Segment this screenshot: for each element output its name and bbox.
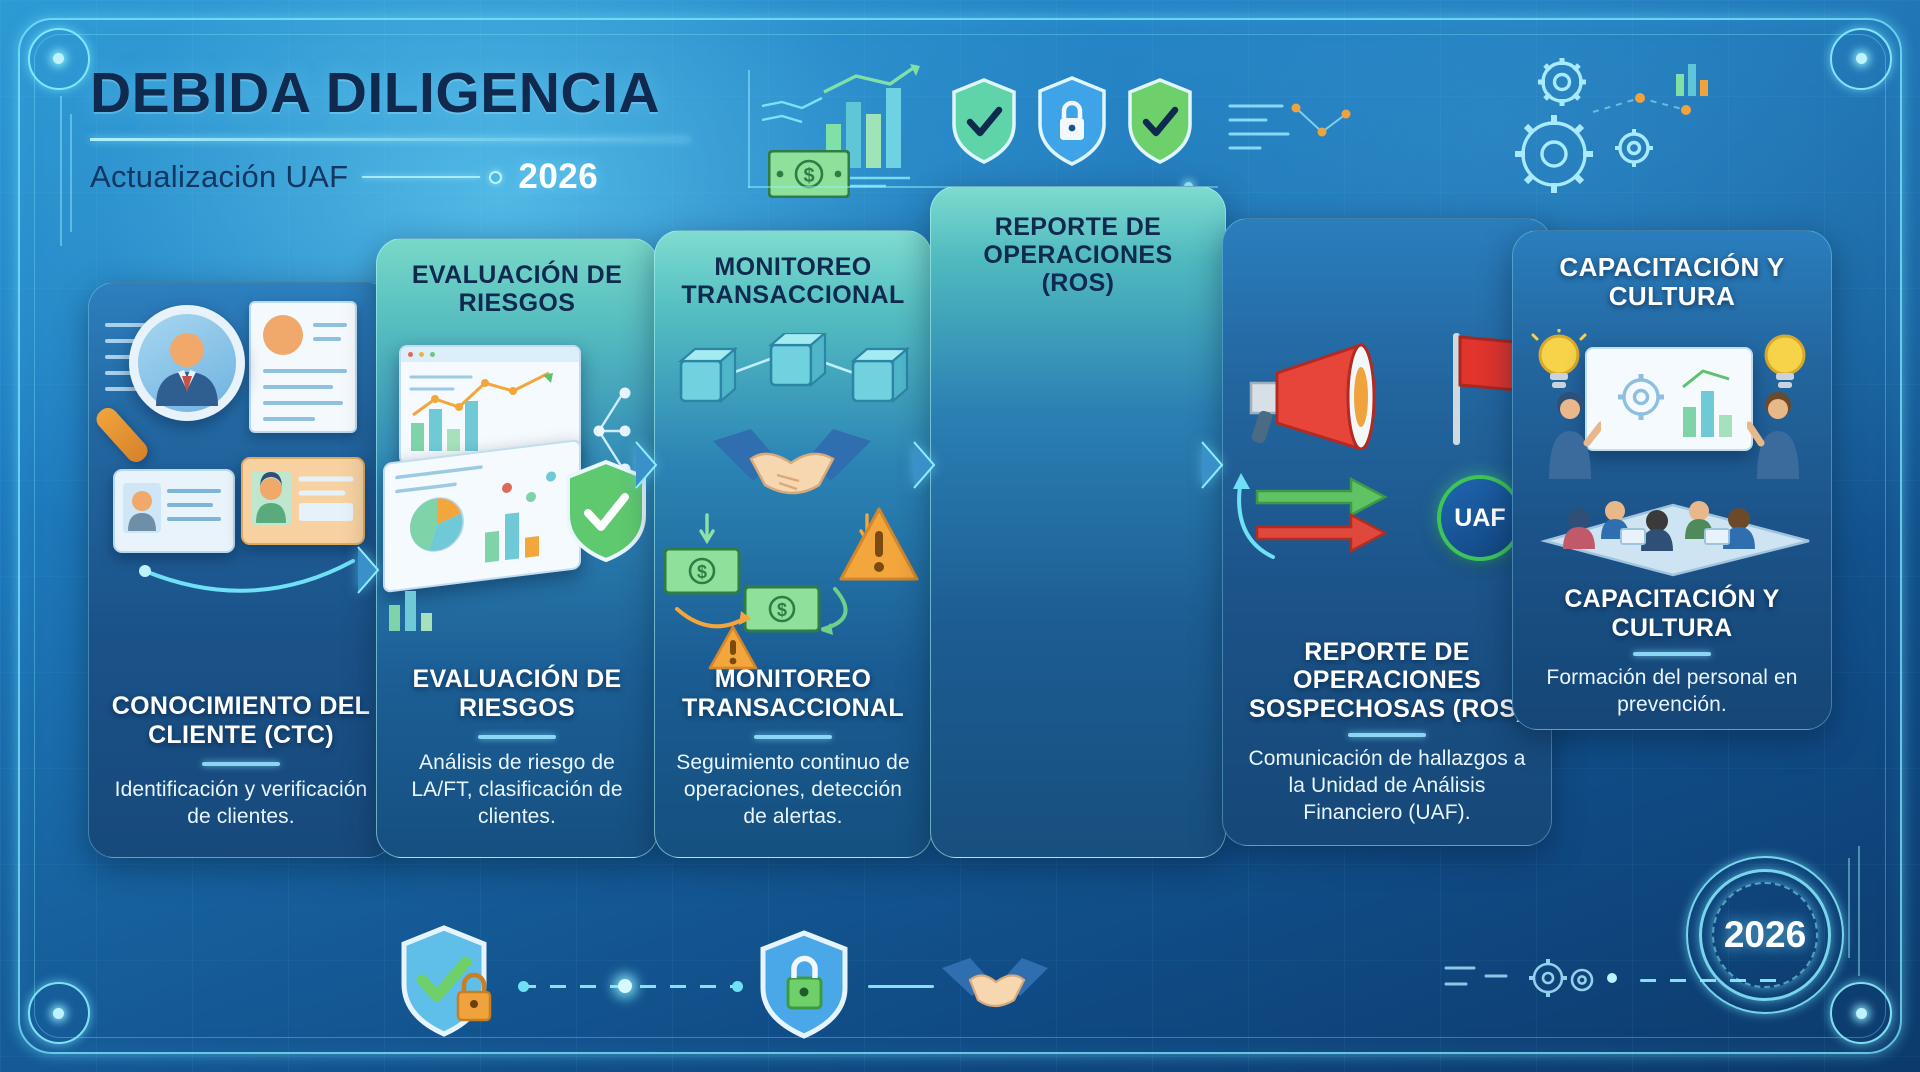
card-2-body: EVALUACIÓN DE RIESGOS Análisis de riesgo… <box>377 665 657 857</box>
card-6-body: CAPACITACIÓN Y CULTURA Formación del per… <box>1513 585 1831 729</box>
card-divider <box>478 735 556 739</box>
card-title: CONOCIMIENTO DEL CLIENTE (CTC) <box>107 692 375 749</box>
bottom-dash-line-2 <box>868 985 934 988</box>
card-capacitacion-y-cultura[interactable]: CAPACITACIÓN Y CULTURA <box>1512 230 1832 730</box>
shield-check-icon <box>400 924 504 1044</box>
card-title: CAPACITACIÓN Y CULTURA <box>1531 585 1813 642</box>
card-monitoreo-transaccional[interactable]: MONITOREO TRANSACCIONAL <box>654 230 932 858</box>
presenter-person-icon <box>1747 387 1809 483</box>
card-head-label: CAPACITACIÓN Y CULTURA <box>1513 231 1831 325</box>
handshake-icon <box>707 419 877 515</box>
flow-chevron <box>356 545 382 595</box>
uaf-badge: UAF <box>1437 475 1523 561</box>
card-3-artwork: $ $ <box>655 323 931 665</box>
warning-triangle-icon <box>707 623 759 673</box>
card-reporte-operaciones-band[interactable]: REPORTE DE OPERACIONES (ROS) <box>930 186 1226 858</box>
card-description: Seguimiento continuo de operaciones, det… <box>673 750 913 831</box>
flow-chevron <box>634 440 660 490</box>
card-4-artwork <box>931 311 1225 831</box>
card-1-artwork <box>89 283 393 692</box>
mini-bar-chart-icon <box>387 575 441 633</box>
card-4-body-empty <box>931 831 1225 857</box>
card-divider <box>1348 733 1426 737</box>
card-5-head-spacer <box>1223 219 1551 295</box>
card-divider <box>1633 652 1711 656</box>
id-card-icon <box>241 457 365 545</box>
card-evaluacion-de-riesgos[interactable]: EVALUACIÓN DE RIESGOS <box>376 238 658 858</box>
curved-connector <box>133 555 373 615</box>
magnifier-icon <box>129 305 245 421</box>
id-card-icon <box>113 469 235 553</box>
card-3-body: MONITOREO TRANSACCIONAL Seguimiento cont… <box>655 665 931 857</box>
card-5-body: REPORTE DE OPERACIONES SOSPECHOSAS (ROS)… <box>1223 638 1551 845</box>
flow-chevron <box>912 440 938 490</box>
card-description: Formación del personal en prevención. <box>1531 665 1813 719</box>
curved-arrow-icon <box>1225 445 1295 565</box>
tablet-chart-icon <box>383 439 581 593</box>
card-head-label: REPORTE DE OPERACIONES (ROS) <box>931 187 1225 311</box>
card-divider <box>202 762 280 766</box>
card-title: MONITOREO TRANSACCIONAL <box>673 665 913 722</box>
bottom-glow-dot <box>618 979 632 993</box>
presentation-screen-icon <box>1585 347 1753 451</box>
card-title: REPORTE DE OPERACIONES SOSPECHOSAS (ROS) <box>1241 638 1533 724</box>
document-icon <box>249 301 357 433</box>
card-description: Comunicación de hallazgos a la Unidad de… <box>1241 746 1533 827</box>
network-node-icon <box>669 333 917 413</box>
audience-group-icon <box>1523 471 1823 581</box>
card-6-artwork <box>1513 325 1831 585</box>
card-description: Identificación y verificación de cliente… <box>107 777 375 831</box>
flow-chevron <box>1200 440 1226 490</box>
magnifier-handle <box>92 404 151 466</box>
bottom-dot-left <box>518 981 529 992</box>
warning-triangle-icon <box>837 505 921 585</box>
card-5-artwork: UAF <box>1223 295 1551 638</box>
handshake-icon <box>940 950 1050 1024</box>
year-badge-label: 2026 <box>1686 856 1844 1014</box>
presenter-person-icon <box>1539 387 1601 483</box>
card-head-label: EVALUACIÓN DE RIESGOS <box>377 239 657 331</box>
year-badge: 2026 <box>1686 856 1844 1014</box>
card-2-artwork <box>377 331 657 665</box>
gear-cluster-icon <box>1440 944 1620 1014</box>
card-divider <box>754 735 832 739</box>
bottom-dot-right <box>732 981 743 992</box>
card-conocimiento-del-cliente[interactable]: CONOCIMIENTO DEL CLIENTE (CTC) Identific… <box>88 282 394 858</box>
megaphone-icon <box>1241 339 1393 449</box>
card-description: Análisis de riesgo de LA/FT, clasificaci… <box>395 750 639 831</box>
card-title: EVALUACIÓN DE RIESGOS <box>395 665 639 722</box>
shield-lock-icon <box>758 930 850 1040</box>
bottom-decor-strip <box>0 912 1920 1072</box>
card-reporte-operaciones-sospechosas[interactable]: UAF REPORTE DE OPERACIONES SOSPECHOSAS (… <box>1222 218 1552 846</box>
card-head-label: MONITOREO TRANSACCIONAL <box>655 231 931 323</box>
card-1-body: CONOCIMIENTO DEL CLIENTE (CTC) Identific… <box>89 692 393 857</box>
